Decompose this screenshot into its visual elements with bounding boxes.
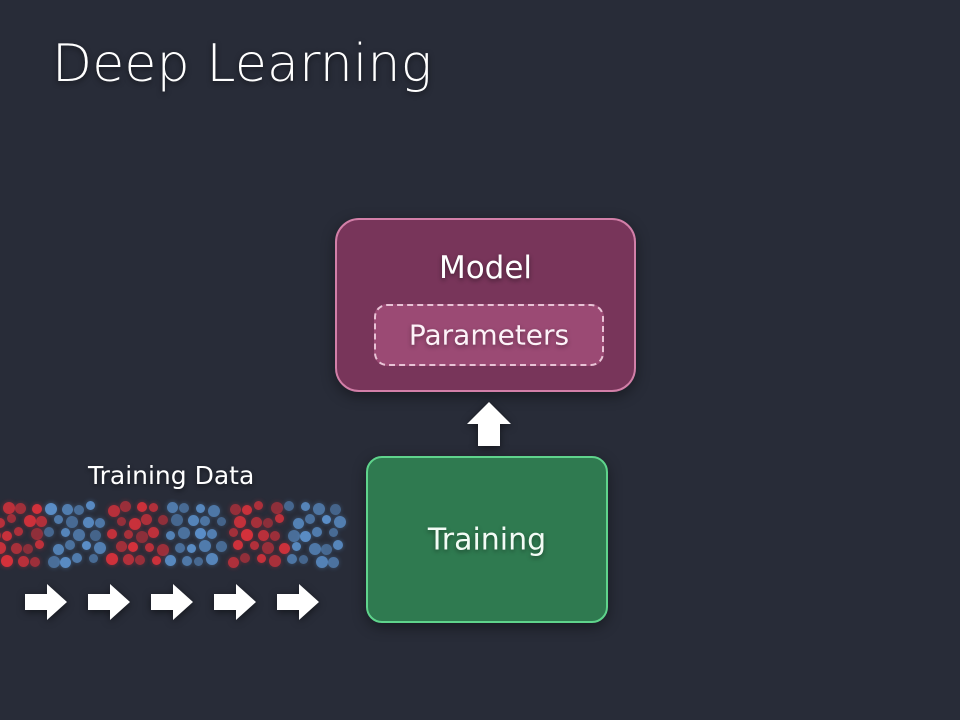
data-dot: [106, 553, 118, 565]
data-dot: [258, 530, 269, 541]
data-dot: [194, 557, 203, 566]
data-dot: [3, 502, 15, 514]
data-dot: [123, 554, 134, 565]
data-dot: [116, 541, 127, 552]
data-dot: [148, 527, 159, 538]
data-dot: [152, 556, 161, 565]
data-dot: [230, 504, 241, 515]
data-dot: [95, 518, 105, 528]
dot-cluster-blue: [166, 503, 222, 569]
arrow-right-icon: [24, 583, 68, 621]
data-dot: [11, 543, 22, 554]
data-dot: [229, 528, 238, 537]
data-dot: [86, 501, 95, 510]
data-dot: [66, 516, 78, 528]
data-dot: [89, 554, 98, 563]
training-data-group: [228, 503, 346, 569]
slide-canvas: Deep Learning Model Parameters Training …: [0, 0, 960, 720]
data-dot: [32, 504, 42, 514]
data-dot: [217, 517, 226, 526]
data-dot: [182, 556, 192, 566]
data-dot: [178, 527, 190, 539]
data-dot: [305, 514, 315, 524]
training-data-group: [108, 503, 226, 569]
data-dot: [269, 555, 281, 567]
training-data-group: [0, 503, 106, 569]
data-dot: [7, 514, 16, 523]
data-dot: [149, 503, 158, 512]
data-dot: [301, 502, 310, 511]
data-dot: [141, 514, 152, 525]
data-dot: [287, 554, 297, 564]
training-data-label: Training Data: [88, 461, 254, 490]
data-dot: [117, 517, 126, 526]
data-dot: [254, 501, 263, 510]
parameters-box[interactable]: Parameters: [374, 304, 604, 366]
data-dot: [312, 527, 322, 537]
data-dot: [330, 504, 341, 515]
data-dot: [73, 529, 85, 541]
data-dot: [206, 553, 218, 565]
arrow-right-icon: [87, 583, 131, 621]
data-dot: [216, 541, 227, 552]
data-dot: [251, 517, 262, 528]
data-dot: [207, 529, 217, 539]
data-dot: [270, 531, 280, 541]
data-dot: [257, 554, 266, 563]
data-dot: [124, 530, 133, 539]
data-dot: [1, 555, 13, 567]
data-dot: [292, 542, 301, 551]
data-dot: [179, 503, 189, 513]
arrow-right-icon: [276, 583, 320, 621]
dot-cluster-red: [108, 503, 164, 569]
training-data-clusters: [0, 503, 360, 569]
arrow-right-icon: [150, 583, 194, 621]
dot-cluster-blue: [286, 503, 342, 569]
data-dot: [313, 503, 325, 515]
training-data-arrow-row: [24, 583, 344, 623]
data-dot: [288, 530, 300, 542]
dot-cluster-blue: [46, 503, 102, 569]
data-dot: [53, 544, 64, 555]
data-dot: [83, 517, 94, 528]
data-dot: [107, 529, 117, 539]
data-dot: [329, 528, 338, 537]
data-dot: [316, 556, 328, 568]
data-dot: [234, 516, 246, 528]
data-dot: [61, 528, 70, 537]
data-dot: [24, 515, 36, 527]
data-dot: [167, 502, 178, 513]
data-dot: [171, 514, 183, 526]
data-dot: [250, 541, 259, 550]
data-dot: [228, 557, 239, 568]
data-dot: [233, 540, 243, 550]
data-dot: [0, 542, 6, 554]
data-dot: [175, 543, 185, 553]
model-box[interactable]: Model Parameters: [335, 218, 636, 392]
parameters-label: Parameters: [376, 319, 602, 352]
data-dot: [45, 503, 57, 515]
data-dot: [275, 514, 284, 523]
data-dot: [199, 540, 211, 552]
data-dot: [82, 541, 91, 550]
data-dot: [62, 504, 73, 515]
data-dot: [136, 531, 148, 543]
data-dot: [240, 553, 250, 563]
data-dot: [271, 502, 283, 514]
data-dot: [196, 504, 205, 513]
data-dot: [137, 502, 147, 512]
data-dot: [72, 553, 82, 563]
data-dot: [263, 518, 273, 528]
arrow-right-icon: [213, 583, 257, 621]
arrow-up-icon: [466, 400, 512, 448]
training-box[interactable]: Training: [366, 456, 608, 623]
data-dot: [108, 505, 120, 517]
data-dot: [65, 540, 75, 550]
data-dot: [128, 542, 138, 552]
data-dot: [299, 555, 308, 564]
data-dot: [284, 501, 294, 511]
data-dot: [293, 518, 304, 529]
data-dot: [208, 505, 220, 517]
data-dot: [74, 505, 84, 515]
data-dot: [14, 527, 23, 536]
data-dot: [18, 556, 29, 567]
data-dot: [262, 542, 274, 554]
data-dot: [30, 557, 40, 567]
data-dot: [309, 543, 321, 555]
data-dot: [195, 528, 206, 539]
data-dot: [129, 518, 141, 530]
dot-cluster-red: [0, 503, 44, 569]
data-dot: [135, 555, 145, 565]
data-dot: [165, 555, 176, 566]
data-dot: [241, 529, 253, 541]
data-dot: [0, 530, 1, 541]
data-dot: [44, 527, 54, 537]
data-dot: [166, 531, 175, 540]
training-label: Training: [368, 522, 606, 557]
data-dot: [0, 518, 5, 528]
data-dot: [31, 528, 43, 540]
data-dot: [334, 516, 346, 528]
data-dot: [242, 505, 252, 515]
data-dot: [145, 543, 154, 552]
dot-cluster-red: [228, 503, 284, 569]
data-dot: [188, 515, 199, 526]
data-dot: [90, 530, 101, 541]
data-dot: [54, 515, 63, 524]
data-dot: [321, 544, 332, 555]
model-label: Model: [337, 250, 634, 286]
data-dot: [328, 557, 339, 568]
data-dot: [60, 557, 71, 568]
data-dot: [333, 540, 343, 550]
data-dot: [48, 556, 60, 568]
data-dot: [200, 516, 210, 526]
data-dot: [120, 501, 131, 512]
data-dot: [322, 515, 331, 524]
data-dot: [94, 542, 106, 554]
data-dot: [15, 503, 26, 514]
data-dot: [23, 544, 33, 554]
data-dot: [187, 544, 196, 553]
page-title: Deep Learning: [52, 34, 432, 94]
data-dot: [2, 531, 12, 541]
data-dot: [300, 531, 311, 542]
data-dot: [35, 540, 44, 549]
